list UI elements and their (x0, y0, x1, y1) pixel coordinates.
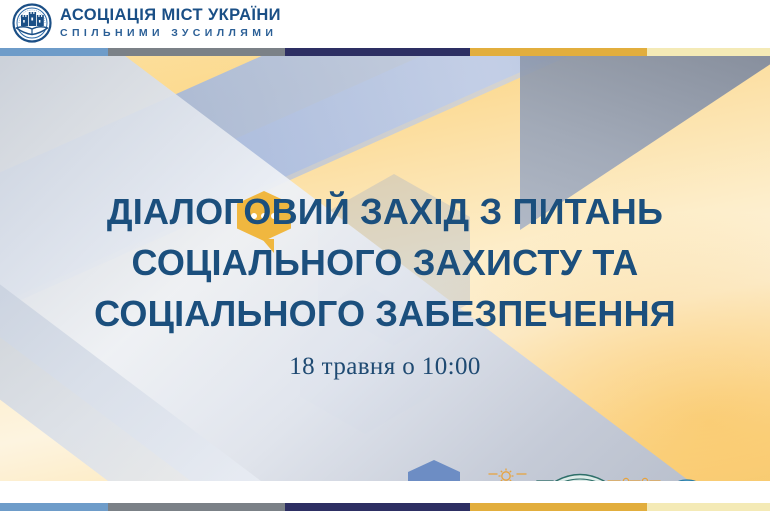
stripe-segment-amber (470, 48, 647, 56)
organization-branding: АСОЦІАЦІЯ МІСТ УКРАЇНИ СПІЛЬНИМИ ЗУСИЛЛЯ… (60, 5, 281, 41)
stripe-segment-navy (285, 503, 470, 511)
speech-bubble-hexagon-icon (408, 460, 460, 481)
stripe-segment-navy (285, 48, 470, 56)
stripe-segment-gray (108, 503, 285, 511)
event-poster: АСОЦІАЦІЯ МІСТ УКРАЇНИ СПІЛЬНИМИ ЗУСИЛЛЯ… (0, 0, 770, 512)
title-line-3: СОЦІАЛЬНОГО ЗАБЕЗПЕЧЕННЯ (0, 288, 770, 339)
stripe-segment-gray (108, 48, 285, 56)
title-line-1: ДІАЛОГОВИЙ ЗАХІД З ПИТАНЬ (0, 186, 770, 237)
poster-title-block: ДІАЛОГОВИЙ ЗАХІД З ПИТАНЬ СОЦІАЛЬНОГО ЗА… (0, 186, 770, 381)
stripe-segment-amber (470, 503, 647, 511)
city-skyline-illustration (484, 464, 770, 481)
brand-stripe-top (0, 48, 770, 56)
sun-icon (499, 469, 514, 482)
castle-shield-emblem-icon (10, 3, 54, 45)
stripe-segment-pale-yellow (647, 48, 770, 56)
org-name: АСОЦІАЦІЯ МІСТ УКРАЇНИ (60, 5, 281, 25)
poster-header: АСОЦІАЦІЯ МІСТ УКРАЇНИ СПІЛЬНИМИ ЗУСИЛЛЯ… (0, 0, 770, 48)
stripe-segment-light-blue (0, 503, 108, 511)
stripe-segment-pale-yellow (647, 503, 770, 511)
title-line-2: СОЦІАЛЬНОГО ЗАХИСТУ ТА (0, 237, 770, 288)
brand-stripe-bottom (0, 503, 770, 511)
poster-artwork: ДІАЛОГОВИЙ ЗАХІД З ПИТАНЬ СОЦІАЛЬНОГО ЗА… (0, 56, 770, 481)
stripe-segment-light-blue (0, 48, 108, 56)
org-tagline: СПІЛЬНИМИ ЗУСИЛЛЯМИ (60, 26, 281, 41)
event-datetime: 18 травня о 10:00 (0, 353, 770, 381)
